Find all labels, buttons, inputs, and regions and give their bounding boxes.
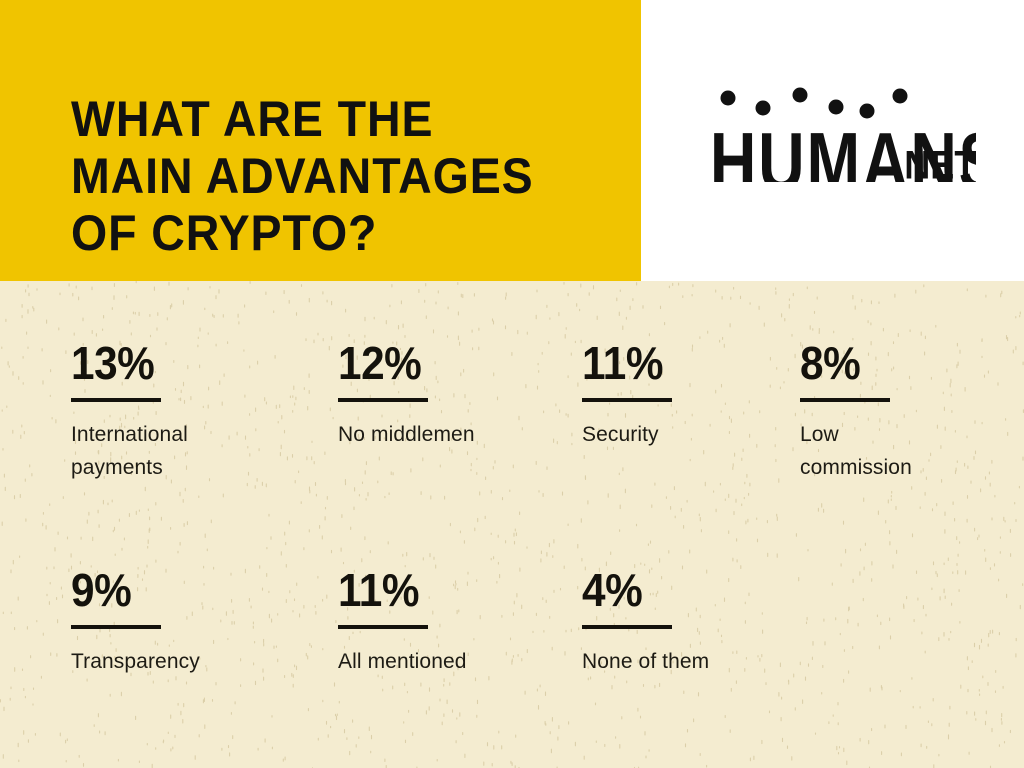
- stat-underline: [800, 398, 890, 402]
- stat-underline: [71, 625, 161, 629]
- stat-label: No middlemen: [338, 418, 475, 451]
- stat-underline: [338, 625, 428, 629]
- stat-value: 4%: [582, 567, 699, 613]
- stat-card: 12%No middlemen: [338, 340, 475, 451]
- stat-value: 12%: [338, 340, 464, 386]
- stat-card: 9%Transparency: [71, 567, 200, 678]
- infographic-canvas: WHAT ARE THE MAIN ADVANTAGES OF CRYPTO? …: [0, 0, 1024, 768]
- stat-value: 11%: [338, 567, 456, 613]
- stat-value: 11%: [582, 340, 665, 386]
- humans-net-logo[interactable]: HUMANS .NET: [708, 86, 976, 182]
- stat-value: 9%: [71, 567, 190, 613]
- stat-label: Security: [582, 418, 672, 451]
- stat-underline: [71, 398, 161, 402]
- stat-label: None of them: [582, 645, 709, 678]
- logo-dot-6: [893, 89, 908, 104]
- page-title: WHAT ARE THE MAIN ADVANTAGES OF CRYPTO?: [71, 91, 592, 262]
- logo-dot-4: [829, 100, 844, 115]
- stat-card: 13%International payments: [71, 340, 188, 484]
- logo-dot-2: [756, 101, 771, 116]
- logo-tld: .NET: [894, 144, 976, 182]
- logo-dot-3: [793, 88, 808, 103]
- stat-label: Transparency: [71, 645, 200, 678]
- stat-underline: [338, 398, 428, 402]
- stat-card: 4%None of them: [582, 567, 709, 678]
- stat-label: All mentioned: [338, 645, 467, 678]
- stat-label: Low commission: [800, 418, 912, 484]
- stat-label: International payments: [71, 418, 188, 484]
- stat-value: 13%: [71, 340, 179, 386]
- logo-dot-1: [721, 91, 736, 106]
- stat-underline: [582, 398, 672, 402]
- stat-card: 11%Security: [582, 340, 672, 451]
- stat-value: 8%: [800, 340, 903, 386]
- stat-card: 11%All mentioned: [338, 567, 467, 678]
- stat-underline: [582, 625, 672, 629]
- stat-card: 8%Low commission: [800, 340, 912, 484]
